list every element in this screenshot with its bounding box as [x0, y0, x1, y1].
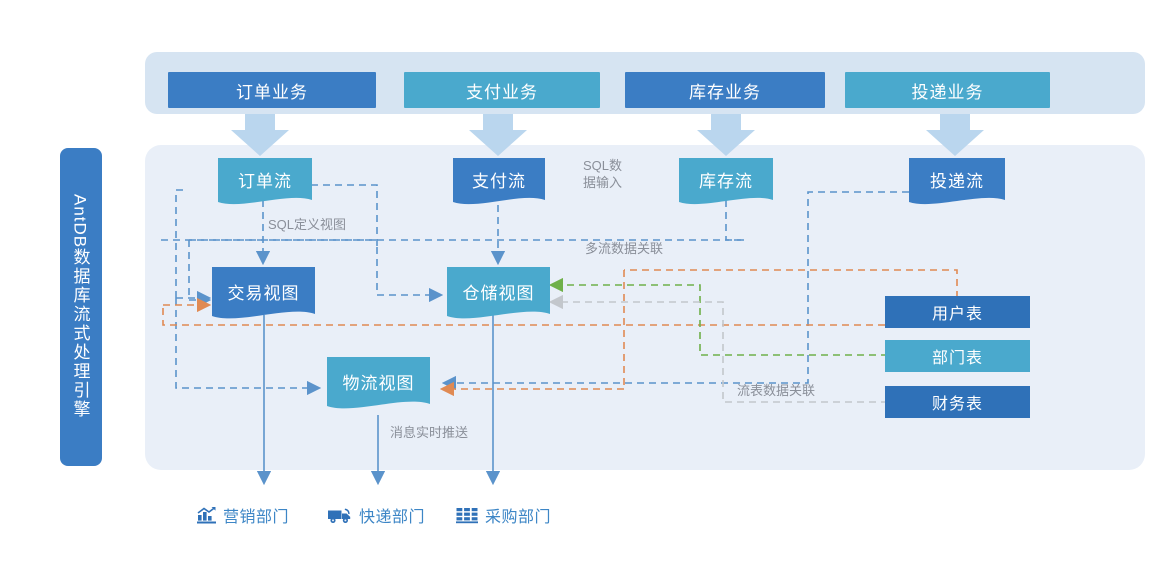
- department-marketing[interactable]: 营销部门: [197, 503, 289, 527]
- top-box-payment[interactable]: 支付业务: [404, 72, 600, 108]
- truck-icon: [328, 507, 352, 524]
- department-express[interactable]: 快递部门: [328, 503, 425, 527]
- bar-chart-icon-svg: [197, 507, 216, 524]
- department-marketing-label: 营销部门: [223, 503, 289, 527]
- department-express-label: 快递部门: [359, 503, 425, 527]
- department-purchase[interactable]: 采购部门: [456, 503, 551, 527]
- top-box-deliver-label: 投递业务: [912, 78, 984, 103]
- node-logistics-view[interactable]: 物流视图: [327, 357, 430, 414]
- node-trade-view[interactable]: 交易视图: [212, 267, 315, 324]
- node-stock-stream-label: 库存流: [699, 167, 753, 192]
- node-payment-stream[interactable]: 支付流: [453, 158, 545, 208]
- warehouse-grid-icon-svg: [456, 507, 478, 524]
- table-box-finance-label: 财务表: [932, 390, 983, 414]
- annotation-sql-input: SQL数 据输入: [583, 157, 622, 191]
- table-box-user-label: 用户表: [932, 300, 983, 324]
- bar-chart-icon: [197, 507, 216, 524]
- table-box-finance[interactable]: 财务表: [885, 386, 1030, 418]
- node-deliver-stream-label: 投递流: [930, 167, 984, 192]
- annotation-stream-table-join: 流表数据关联: [737, 382, 815, 399]
- sidebar-label: AntDB数据库流式处理引擎: [68, 194, 95, 419]
- annotation-realtime-push: 消息实时推送: [390, 424, 468, 441]
- truck-icon-svg: [328, 507, 352, 524]
- node-payment-stream-label: 支付流: [472, 167, 526, 192]
- table-box-department[interactable]: 部门表: [885, 340, 1030, 372]
- node-deliver-stream[interactable]: 投递流: [909, 158, 1005, 208]
- top-box-order-label: 订单业务: [236, 78, 308, 103]
- node-stock-stream[interactable]: 库存流: [679, 158, 773, 208]
- top-box-stock-label: 库存业务: [689, 78, 761, 103]
- warehouse-grid-icon: [456, 507, 478, 524]
- node-order-stream-label: 订单流: [238, 167, 292, 192]
- table-box-user[interactable]: 用户表: [885, 296, 1030, 328]
- top-box-stock[interactable]: 库存业务: [625, 72, 825, 108]
- node-order-stream[interactable]: 订单流: [218, 158, 312, 208]
- table-box-department-label: 部门表: [932, 344, 983, 368]
- node-logistics-view-label: 物流视图: [343, 369, 415, 394]
- top-box-order[interactable]: 订单业务: [168, 72, 376, 108]
- node-storage-view-label: 仓储视图: [463, 279, 535, 304]
- top-box-payment-label: 支付业务: [466, 78, 538, 103]
- department-purchase-label: 采购部门: [485, 503, 551, 527]
- sidebar-subtitle: 数据库流式处理引擎: [71, 249, 90, 420]
- node-trade-view-label: 交易视图: [228, 279, 300, 304]
- sidebar-antdb-engine: AntDB数据库流式处理引擎: [60, 148, 102, 466]
- diagram-canvas: AntDB数据库流式处理引擎 订单业务 支付业务 库存业务 投递业务 订单流 支…: [0, 0, 1166, 562]
- sidebar-brand: AntDB: [71, 194, 90, 248]
- top-box-deliver[interactable]: 投递业务: [845, 72, 1050, 108]
- node-storage-view[interactable]: 仓储视图: [447, 267, 550, 324]
- annotation-sql-define-view: SQL定义视图: [268, 216, 346, 233]
- annotation-multi-stream-join: 多流数据关联: [585, 240, 663, 257]
